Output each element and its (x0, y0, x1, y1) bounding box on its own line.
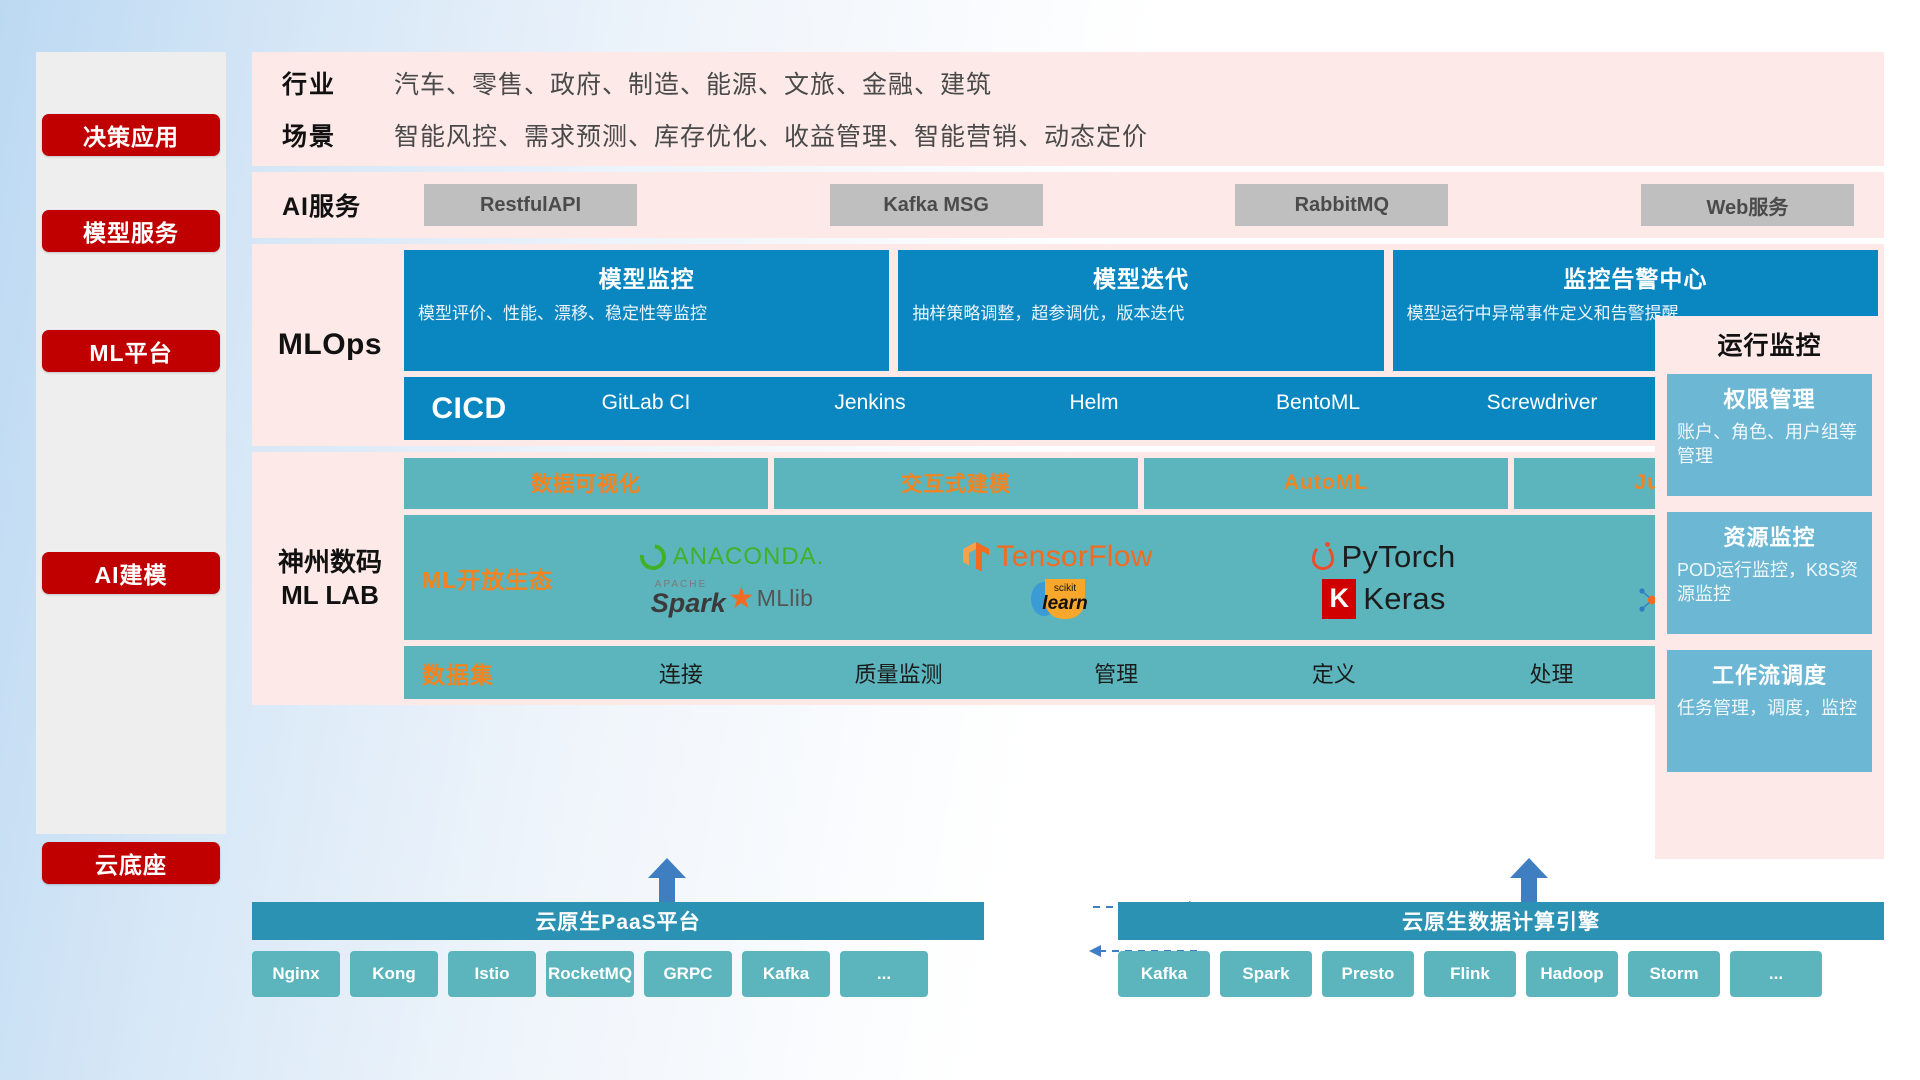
scenario-value: 智能风控、需求预测、库存优化、收益管理、智能营销、动态定价 (394, 117, 1148, 153)
dataset-item-quality-monitoring[interactable]: 质量监测 (790, 657, 1008, 689)
paas-column: 云原生PaaS平台 Nginx Kong Istio RocketMQ GRPC… (252, 902, 984, 997)
scikit-learn-icon: scikit learn (1045, 579, 1085, 619)
card-desc: 模型评价、性能、漂移、稳定性等监控 (418, 302, 875, 325)
engine-chip-more[interactable]: ... (1730, 951, 1822, 997)
keras-logo-text: Keras (1363, 581, 1445, 617)
data-engine-column: 云原生数据计算引擎 Kafka Spark Presto Flink Hadoo… (1118, 902, 1884, 997)
cloud-foundation-section: 云原生PaaS平台 Nginx Kong Istio RocketMQ GRPC… (252, 860, 1884, 1040)
data-engine-chip-list: Kafka Spark Presto Flink Hadoop Storm ..… (1118, 951, 1884, 997)
card-title: 模型监控 (418, 260, 875, 294)
card-title: 模型迭代 (912, 260, 1369, 294)
runtime-monitoring-panel: 运行监控 权限管理 账户、角色、用户组等管理 资源监控 POD运行监控，K8S资… (1655, 316, 1884, 859)
rail-item-model-service[interactable]: 模型服务 (42, 210, 220, 252)
cicd-item-bentoml[interactable]: BentoML (1206, 389, 1430, 417)
paas-chip-kafka[interactable]: Kafka (742, 951, 830, 997)
layer-rail: 决策应用 模型服务 ML平台 AI建模 (36, 52, 226, 834)
tensorflow-icon (963, 542, 989, 572)
ai-service-band: AI服务 RestfulAPI Kafka MSG RabbitMQ Web服务 (252, 172, 1884, 238)
pytorch-logo: PyTorch (1312, 539, 1455, 575)
card-title: 工作流调度 (1677, 658, 1862, 690)
monitor-card-workflow[interactable]: 工作流调度 任务管理，调度，监控 (1667, 650, 1872, 772)
ml-lab-label-line2: ML LAB (281, 579, 379, 612)
data-engine-title: 云原生数据计算引擎 (1118, 902, 1884, 940)
paas-chip-nginx[interactable]: Nginx (252, 951, 340, 997)
ai-service-chip-kafka-msg[interactable]: Kafka MSG (830, 184, 1043, 226)
engine-chip-storm[interactable]: Storm (1628, 951, 1720, 997)
tensorflow-logo: TensorFlow (963, 540, 1152, 574)
engine-chip-flink[interactable]: Flink (1424, 951, 1516, 997)
lab-tool-automl[interactable]: AutoML (1144, 458, 1508, 509)
card-desc: 账户、角色、用户组等管理 (1677, 420, 1862, 469)
card-title: 权限管理 (1677, 382, 1862, 414)
engine-chip-spark[interactable]: Spark (1220, 951, 1312, 997)
scikit-learn-logo: scikit learn (1031, 579, 1085, 619)
card-desc: POD运行监控，K8S资源监控 (1677, 558, 1862, 607)
spark-star-icon: ★ (728, 584, 755, 614)
anaconda-logo: ANACONDA. (640, 543, 825, 571)
ml-lab-label: 神州数码 ML LAB (256, 458, 404, 699)
dataset-item-define[interactable]: 定义 (1225, 657, 1443, 689)
dataset-item-manage[interactable]: 管理 (1007, 657, 1225, 689)
spark-logo-text: Spark (651, 590, 726, 617)
dataset-item-connect[interactable]: 连接 (572, 657, 790, 689)
rail-item-label: 云底座 (95, 846, 167, 880)
paas-chip-grpc[interactable]: GRPC (644, 951, 732, 997)
ai-service-label: AI服务 (282, 187, 424, 223)
rail-item-label: ML平台 (89, 334, 172, 368)
decision-apps-band: 行业 汽车、零售、政府、制造、能源、文旅、金融、建筑 场景 智能风控、需求预测、… (252, 52, 1884, 166)
engine-chip-hadoop[interactable]: Hadoop (1526, 951, 1618, 997)
cicd-item-screwdriver[interactable]: Screwdriver (1430, 389, 1654, 417)
learn-word: learn (1042, 594, 1087, 613)
monitor-card-resource[interactable]: 资源监控 POD运行监控，K8S资源监控 (1667, 512, 1872, 634)
keras-icon: K (1322, 579, 1356, 619)
lab-tool-interactive-modeling[interactable]: 交互式建模 (774, 458, 1138, 509)
card-desc: 抽样策略调整，超参调优，版本迭代 (912, 302, 1369, 325)
keras-logo: K Keras (1322, 579, 1445, 619)
rail-item-decision-apps[interactable]: 决策应用 (42, 114, 220, 156)
anaconda-icon (635, 538, 671, 574)
mlops-card-model-monitoring[interactable]: 模型监控 模型评价、性能、漂移、稳定性等监控 (404, 250, 889, 371)
paas-chip-list: Nginx Kong Istio RocketMQ GRPC Kafka ... (252, 951, 984, 997)
paas-chip-istio[interactable]: Istio (448, 951, 536, 997)
ai-service-chip-list: RestfulAPI Kafka MSG RabbitMQ Web服务 (424, 184, 1854, 226)
scenario-label: 场景 (282, 117, 394, 153)
ai-service-chip-restfulapi[interactable]: RestfulAPI (424, 184, 637, 226)
rail-item-ml-platform[interactable]: ML平台 (42, 330, 220, 372)
card-title: 监控告警中心 (1407, 260, 1864, 294)
anaconda-logo-text: ANACONDA. (673, 543, 825, 571)
mlops-band: MLOps 模型监控 模型评价、性能、漂移、稳定性等监控 模型迭代 抽样策略调整… (252, 244, 1884, 446)
rail-item-ai-modeling[interactable]: AI建模 (42, 552, 220, 594)
spark-mllib-logo: APACHE Spark ★ MLlib (651, 580, 813, 617)
ml-ecosystem-title: ML开放生态 (422, 561, 572, 595)
architecture-stack: 行业 汽车、零售、政府、制造、能源、文旅、金融、建筑 场景 智能风控、需求预测、… (252, 52, 1884, 711)
cicd-item-helm[interactable]: Helm (982, 389, 1206, 417)
pytorch-logo-text: PyTorch (1341, 539, 1455, 575)
mllib-logo-text: MLlib (757, 585, 813, 612)
paas-chip-more[interactable]: ... (840, 951, 928, 997)
dataset-title: 数据集 (422, 656, 572, 690)
ai-service-chip-rabbitmq[interactable]: RabbitMQ (1235, 184, 1448, 226)
ml-lab-label-line1: 神州数码 (278, 546, 382, 579)
card-desc: 任务管理，调度，监控 (1677, 696, 1862, 720)
engine-chip-kafka[interactable]: Kafka (1118, 951, 1210, 997)
industry-row: 行业 汽车、零售、政府、制造、能源、文旅、金融、建筑 (282, 65, 1884, 101)
card-title: 资源监控 (1677, 520, 1862, 552)
mlops-card-model-iteration[interactable]: 模型迭代 抽样策略调整，超参调优，版本迭代 (898, 250, 1383, 371)
rail-item-label: AI建模 (95, 556, 168, 590)
rail-item-label: 模型服务 (83, 214, 179, 248)
lab-tool-data-visualization[interactable]: 数据可视化 (404, 458, 768, 509)
engine-chip-presto[interactable]: Presto (1322, 951, 1414, 997)
paas-chip-kong[interactable]: Kong (350, 951, 438, 997)
rail-item-label: 决策应用 (83, 118, 179, 152)
industry-value: 汽车、零售、政府、制造、能源、文旅、金融、建筑 (394, 65, 992, 101)
ml-lab-band: 神州数码 ML LAB 数据可视化 交互式建模 AutoML JupyterLa… (252, 452, 1884, 705)
rail-item-cloud-base[interactable]: 云底座 (42, 842, 220, 884)
tensorflow-logo-text: TensorFlow (996, 540, 1152, 574)
monitor-card-permission[interactable]: 权限管理 账户、角色、用户组等管理 (1667, 374, 1872, 496)
mlops-label: MLOps (256, 250, 404, 440)
dataset-item-process[interactable]: 处理 (1443, 657, 1661, 689)
scenario-row: 场景 智能风控、需求预测、库存优化、收益管理、智能营销、动态定价 (282, 117, 1884, 153)
paas-chip-rocketmq[interactable]: RocketMQ (546, 951, 634, 997)
cicd-item-gitlab-ci[interactable]: GitLab CI (534, 389, 758, 417)
industry-label: 行业 (282, 65, 394, 101)
runtime-monitoring-title: 运行监控 (1667, 326, 1872, 362)
cicd-title: CICD (404, 392, 534, 426)
paas-title: 云原生PaaS平台 (252, 902, 984, 940)
pytorch-icon (1312, 544, 1334, 570)
ai-service-chip-web-service[interactable]: Web服务 (1641, 184, 1854, 226)
cicd-item-jenkins[interactable]: Jenkins (758, 389, 982, 417)
